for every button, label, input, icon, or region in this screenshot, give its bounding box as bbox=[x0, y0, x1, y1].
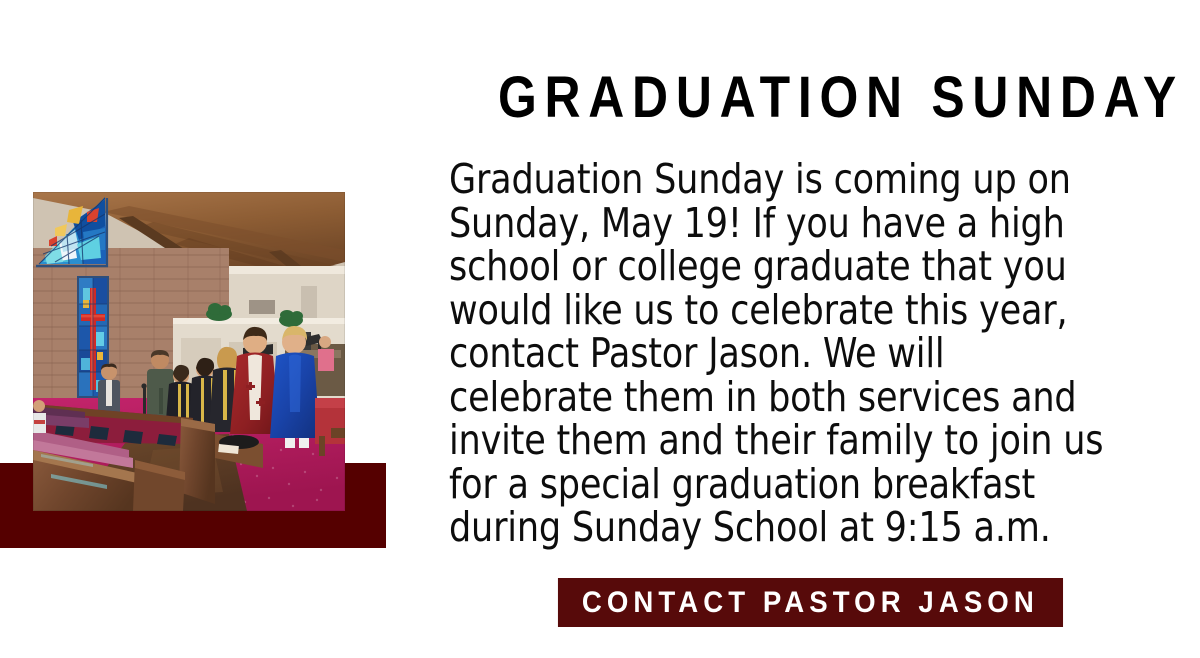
page-title: GRADUATION SUNDAY bbox=[498, 67, 1100, 129]
announcement-body-text: Graduation Sunday is coming up on Sunday… bbox=[449, 158, 1114, 550]
announcement-content-column: GRADUATION SUNDAY Graduation Sunday is c… bbox=[420, 0, 1200, 658]
sanctuary-photo-illustration bbox=[33, 192, 345, 511]
contact-pastor-jason-button[interactable]: CONTACT PASTOR JASON bbox=[558, 578, 1063, 627]
cta-container: CONTACT PASTOR JASON bbox=[420, 578, 1200, 627]
left-media-column bbox=[0, 0, 420, 658]
person-far-left bbox=[33, 400, 46, 433]
sanctuary-photo bbox=[33, 192, 345, 511]
